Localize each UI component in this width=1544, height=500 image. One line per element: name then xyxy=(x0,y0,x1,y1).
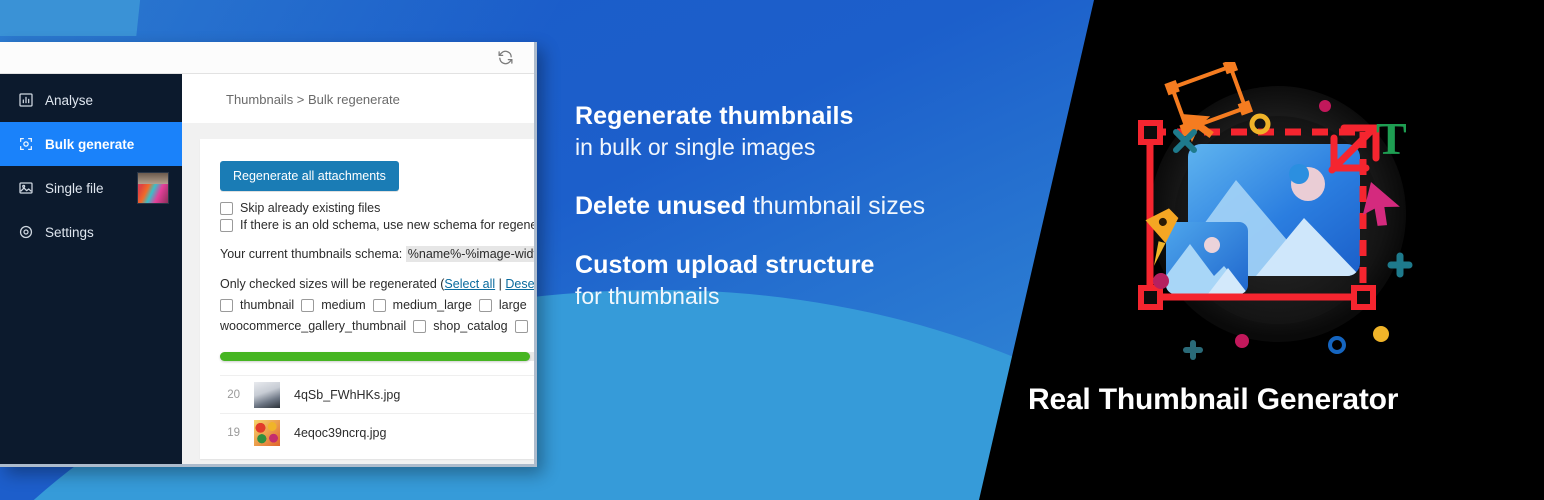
app-body: Analyse Bulk generate xyxy=(0,74,534,464)
sizes-row-1: thumbnail medium medium_large large xyxy=(220,298,534,312)
checkbox-size-shop-catalog[interactable] xyxy=(413,320,426,333)
progress-bar xyxy=(220,352,530,361)
dot-magenta-top xyxy=(1319,100,1331,112)
sidebar-item-settings[interactable]: Settings xyxy=(0,210,182,254)
file-thumbnail xyxy=(254,382,280,408)
marketing-copy: Regenerate thumbnails in bulk or single … xyxy=(575,100,1005,339)
plus-mark-teal-bottom xyxy=(1186,343,1200,357)
feature-block-2: Delete unused thumbnail sizes xyxy=(575,190,1005,222)
sidebar-item-label: Analyse xyxy=(45,93,93,108)
breadcrumb: Thumbnails > Bulk regenerate xyxy=(182,74,534,123)
current-schema-line: Your current thumbnails schema: %name%-%… xyxy=(220,247,534,261)
gear-icon xyxy=(18,224,34,240)
sidebar-preview-thumbnail xyxy=(138,173,168,203)
feature-3-subline: for thumbnails xyxy=(575,281,1005,312)
regenerate-all-attachments-button[interactable]: Regenerate all attachments xyxy=(220,161,399,191)
sidebar-item-bulk-generate[interactable]: Bulk generate xyxy=(0,122,182,166)
feature-1-subline: in bulk or single images xyxy=(575,132,1005,163)
feature-3-headline: Custom upload structure xyxy=(575,249,1005,281)
product-title: Real Thumbnail Generator xyxy=(1028,383,1398,417)
sidebar-item-label: Bulk generate xyxy=(45,137,134,152)
crop-target-icon xyxy=(18,136,34,152)
checkbox-size-thumbnail[interactable] xyxy=(220,299,233,312)
bar-chart-icon xyxy=(18,92,34,108)
file-index: 19 xyxy=(220,427,240,439)
checkbox-size-large[interactable] xyxy=(479,299,492,312)
deselect-link[interactable]: Deselect xyxy=(505,277,534,291)
dot-magenta-bottom xyxy=(1235,334,1249,348)
ring-blue-bottom xyxy=(1330,338,1344,352)
checkbox-old-schema[interactable] xyxy=(220,219,233,232)
text-tool-icon: T xyxy=(1376,113,1407,164)
background-corner-shape xyxy=(0,0,144,36)
product-logo-illustration: T xyxy=(1128,62,1428,362)
promo-banner: Analyse Bulk generate xyxy=(0,0,1544,500)
sizes-row-2: woocommerce_gallery_thumbnail shop_catal… xyxy=(220,319,534,333)
sidebar-item-analyse[interactable]: Analyse xyxy=(0,78,182,122)
checkbox-old-schema-label: If there is an old schema, use new schem… xyxy=(240,218,534,232)
dot-blue xyxy=(1289,164,1309,184)
file-thumbnail xyxy=(254,420,280,446)
size-label-shop-catalog: shop_catalog xyxy=(433,319,507,333)
file-index: 20 xyxy=(220,389,240,401)
feature-2-bold: Delete unused xyxy=(575,192,746,220)
progress-track xyxy=(220,352,534,361)
size-label-thumbnail: thumbnail xyxy=(240,298,294,312)
current-schema-label: Your current thumbnails schema: xyxy=(220,247,406,261)
file-name: 4qSb_FWhHKs.jpg xyxy=(294,388,400,402)
bulk-regenerate-panel: Regenerate all attachments Skip already … xyxy=(200,139,534,459)
size-label-large: large xyxy=(499,298,527,312)
list-item[interactable]: 19 4eqoc39ncrq.jpg xyxy=(220,413,534,451)
feature-1-headline: Regenerate thumbnails xyxy=(575,100,1005,132)
sidebar-item-label: Settings xyxy=(45,225,94,240)
size-label-medium-large: medium_large xyxy=(393,298,472,312)
app-content: Thumbnails > Bulk regenerate Regenerate … xyxy=(182,74,534,464)
size-label-woocommerce-gallery-thumbnail: woocommerce_gallery_thumbnail xyxy=(220,319,406,333)
sizes-intro-line: Only checked sizes will be regenerated (… xyxy=(220,277,534,291)
regenerated-file-list: 20 4qSb_FWhHKs.jpg 19 4eqoc39ncrq.jpg xyxy=(220,375,534,451)
checkbox-size-medium-large[interactable] xyxy=(373,299,386,312)
sidebar-item-label: Single file xyxy=(45,181,104,196)
app-topbar xyxy=(0,42,534,74)
checkbox-size-shop-single[interactable] xyxy=(515,320,528,333)
dot-yellow-right xyxy=(1373,326,1389,342)
sizes-intro-text: Only checked sizes will be regenerated ( xyxy=(220,277,444,291)
checkbox-skip-existing-row[interactable]: Skip already existing files xyxy=(220,201,534,215)
checkbox-skip-existing[interactable] xyxy=(220,202,233,215)
refresh-icon[interactable] xyxy=(497,49,514,66)
feature-block-3: Custom upload structure for thumbnails xyxy=(575,249,1005,312)
sidebar-item-single-file[interactable]: Single file xyxy=(0,166,182,210)
current-schema-value: %name%-%image-width% xyxy=(406,246,534,262)
file-name: 4eqoc39ncrq.jpg xyxy=(294,426,386,440)
feature-2-light: thumbnail sizes xyxy=(746,192,925,220)
checkbox-old-schema-row[interactable]: If there is an old schema, use new schem… xyxy=(220,218,534,232)
feature-2-headline: Delete unused thumbnail sizes xyxy=(575,190,1005,222)
app-window-screenshot: Analyse Bulk generate xyxy=(0,42,537,467)
small-image-thumbnail xyxy=(1166,222,1248,294)
size-label-medium: medium xyxy=(321,298,365,312)
sizes-separator: | xyxy=(495,277,505,291)
image-icon xyxy=(18,180,34,196)
list-item[interactable]: 20 4qSb_FWhHKs.jpg xyxy=(220,375,534,413)
dot-magenta-left xyxy=(1153,273,1169,289)
app-sidebar: Analyse Bulk generate xyxy=(0,74,182,464)
checkbox-size-medium[interactable] xyxy=(301,299,314,312)
checkbox-skip-existing-label: Skip already existing files xyxy=(240,201,380,215)
feature-block-1: Regenerate thumbnails in bulk or single … xyxy=(575,100,1005,163)
select-all-link[interactable]: Select all xyxy=(444,277,495,291)
